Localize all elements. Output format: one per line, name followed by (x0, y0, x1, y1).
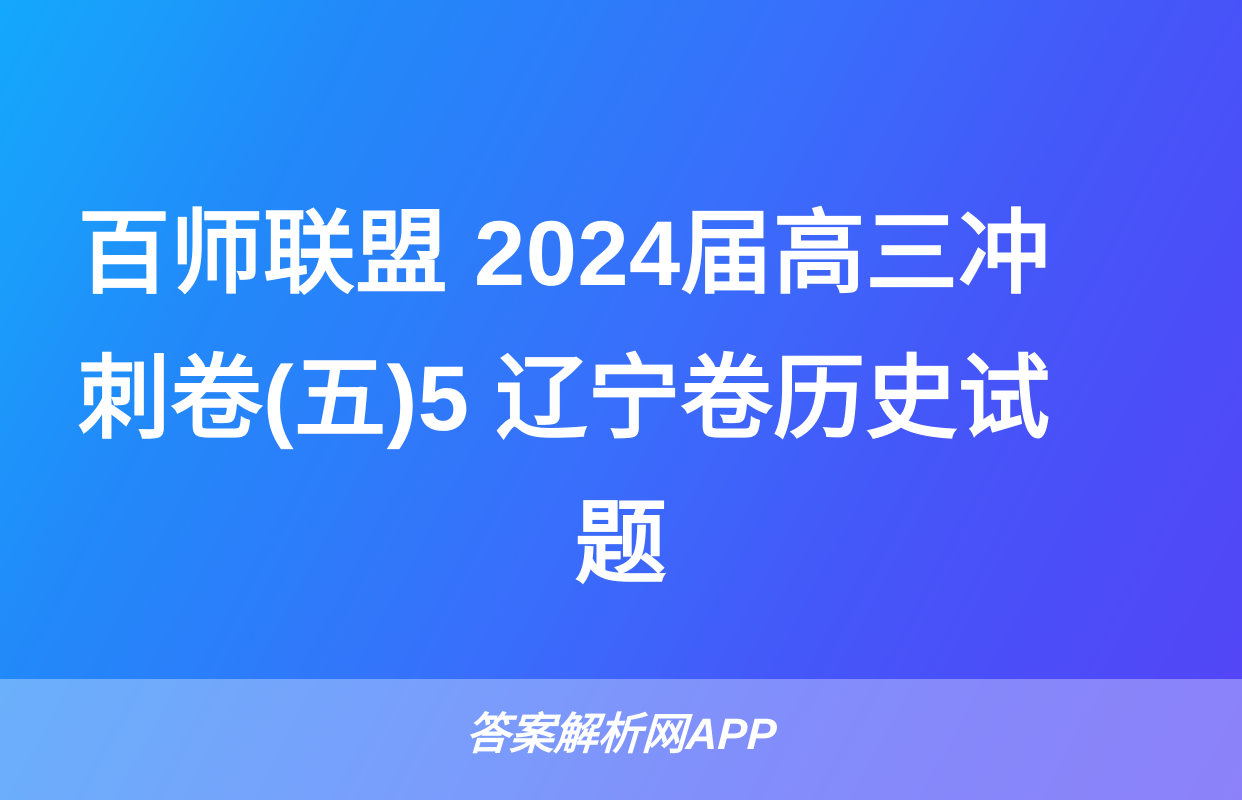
poster-canvas: 百师联盟 2024届高三冲 刺卷(五)5 辽宁卷历史试 题 答案解析网APP (0, 0, 1242, 800)
title-line-1: 百师联盟 2024届高三冲 (78, 182, 1164, 327)
title-line-3: 题 (78, 472, 1164, 617)
watermark: 答案解析网APP (0, 709, 1242, 761)
watermark-label: 答案解析网APP (464, 709, 777, 761)
page-title: 百师联盟 2024届高三冲 刺卷(五)5 辽宁卷历史试 题 (78, 182, 1164, 617)
title-line-2: 刺卷(五)5 辽宁卷历史试 (78, 327, 1164, 472)
